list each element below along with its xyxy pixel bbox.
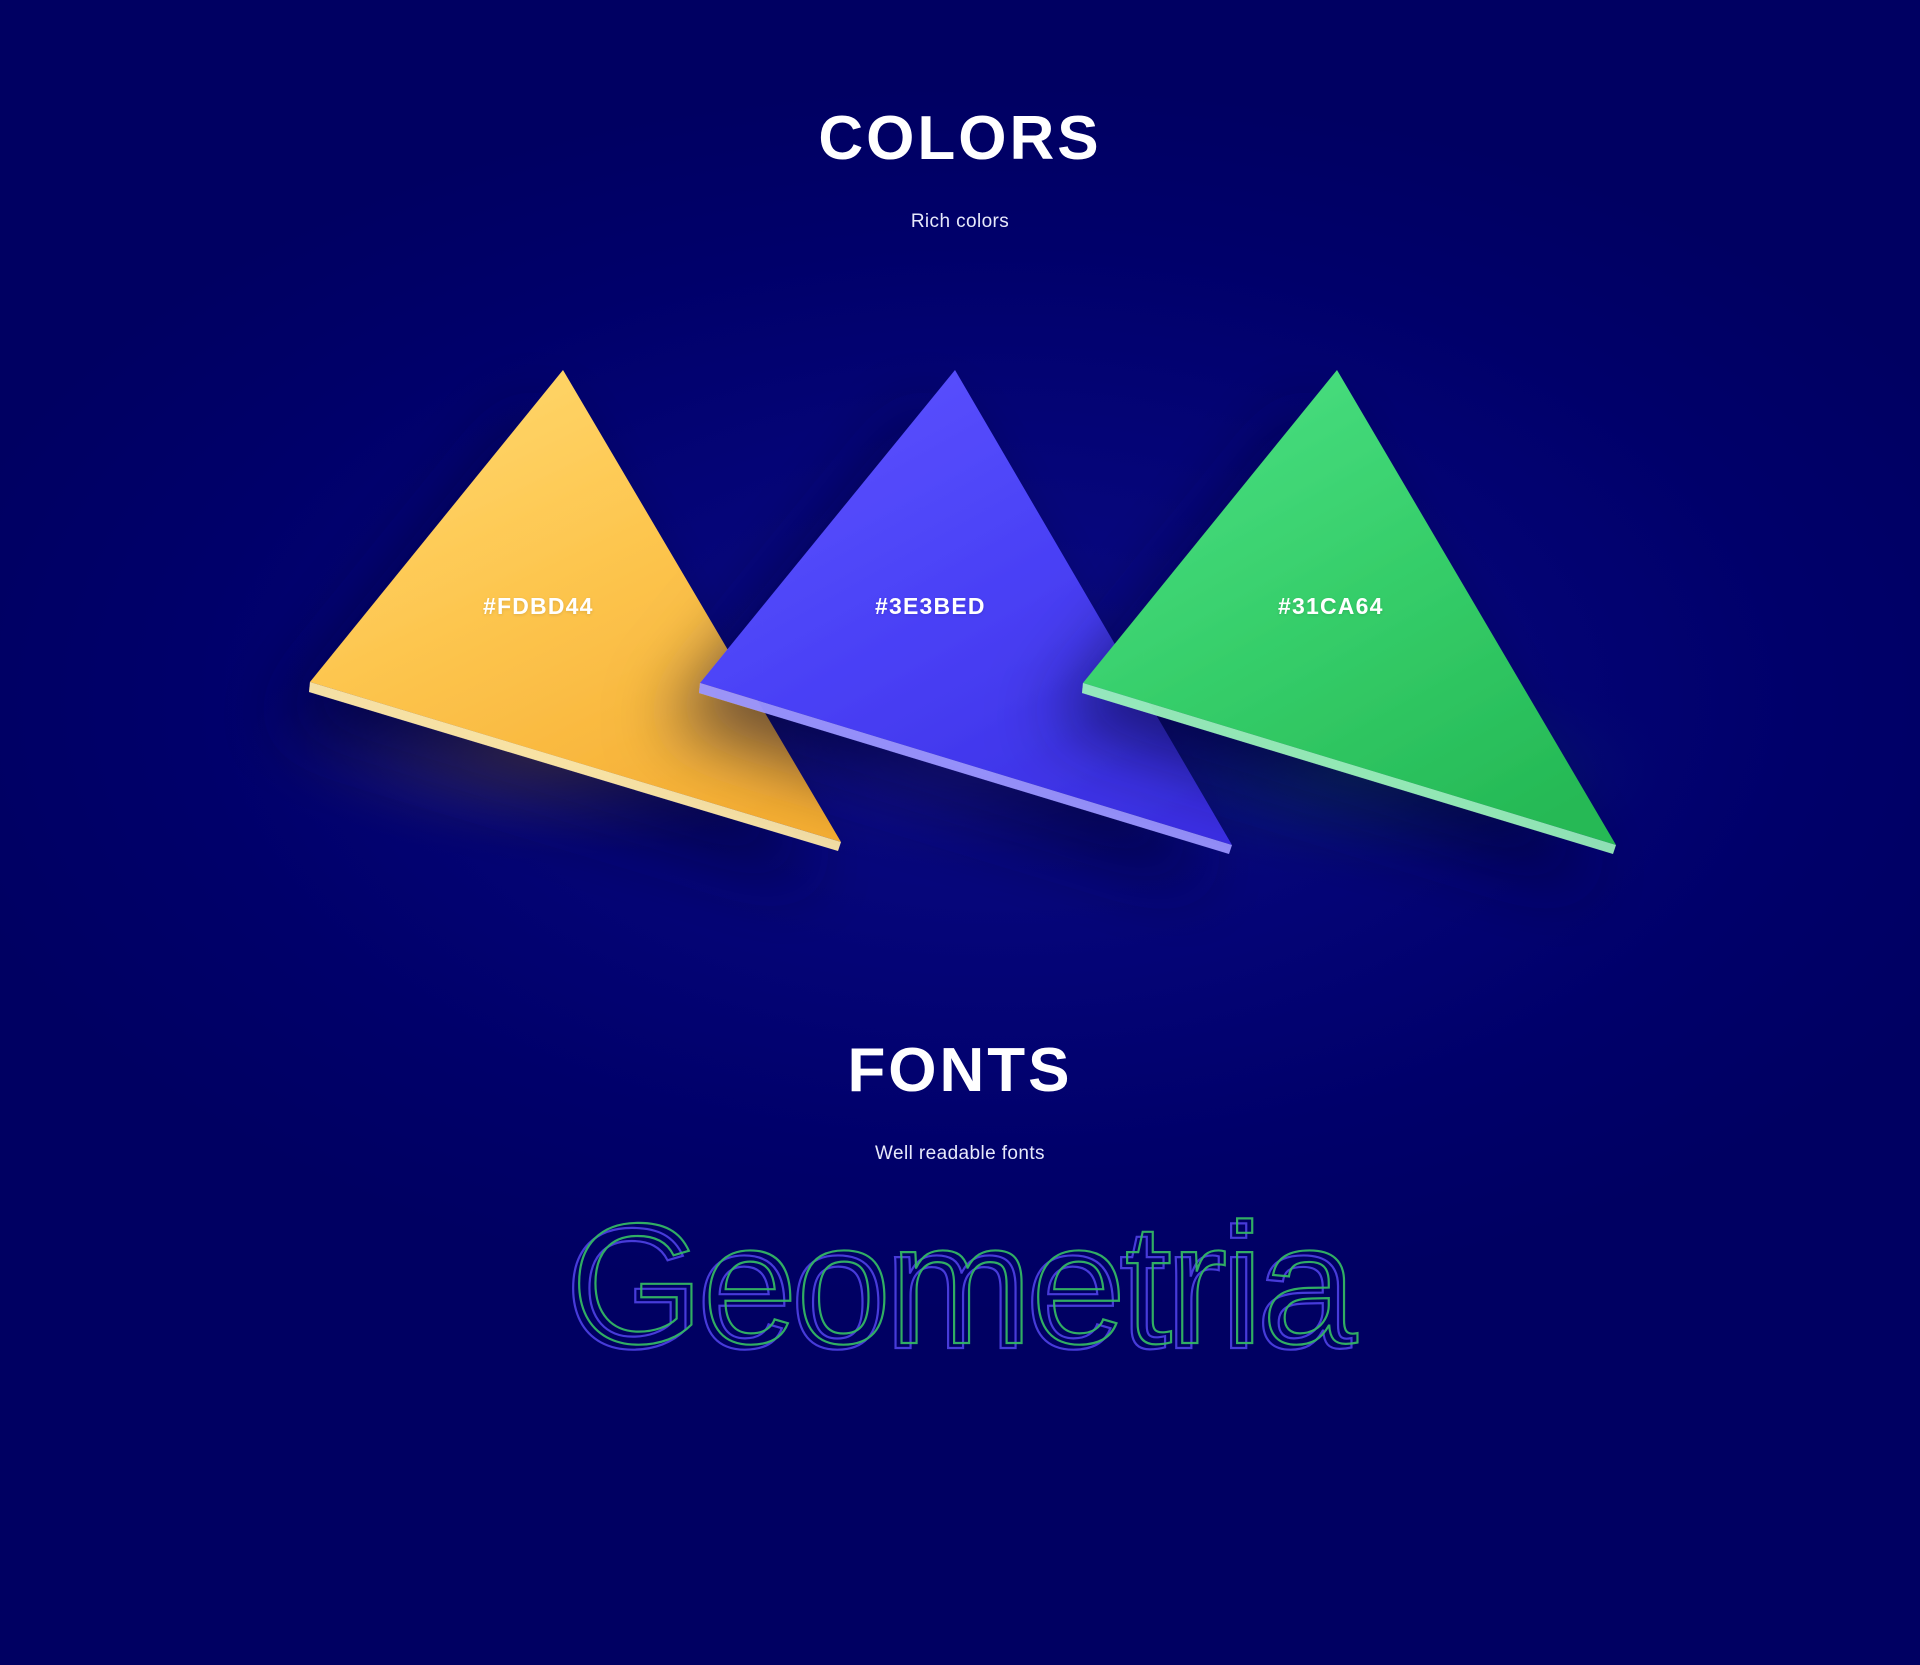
fonts-subtitle: Well readable fonts — [0, 1102, 1920, 1163]
colors-title: COLORS — [0, 108, 1920, 170]
colors-subtitle: Rich colors — [0, 170, 1920, 231]
colors-section-header: COLORS Rich colors — [0, 108, 1920, 231]
font-specimen: Geometria Geometria — [0, 1180, 1920, 1410]
fonts-section-header: FONTS Well readable fonts — [0, 1040, 1920, 1163]
swatch-label-yellow: #FDBD44 — [483, 593, 594, 620]
fonts-title: FONTS — [0, 1040, 1920, 1102]
font-specimen-outline-layer: Geometria — [571, 1188, 1358, 1380]
page-background — [0, 0, 1920, 1665]
swatch-label-blue: #3E3BED — [875, 593, 986, 620]
swatch-label-green: #31CA64 — [1278, 593, 1384, 620]
